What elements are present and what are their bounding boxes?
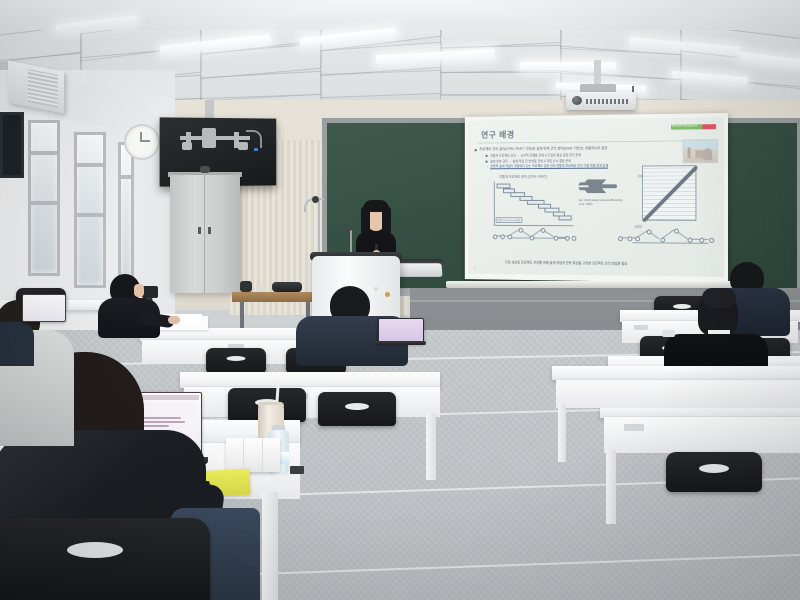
chair[interactable] bbox=[666, 452, 762, 492]
av-equipment bbox=[240, 281, 252, 292]
dsm-matrix bbox=[642, 165, 696, 221]
network-diagram-right bbox=[617, 226, 718, 248]
projector-pole bbox=[594, 60, 601, 86]
desk-leg bbox=[558, 404, 566, 462]
aircraft-illustration bbox=[579, 175, 623, 197]
desk bbox=[552, 366, 800, 380]
attendee-hand bbox=[168, 316, 180, 324]
attendee-hair-bun bbox=[702, 288, 736, 308]
desk-cable-slot bbox=[634, 325, 648, 330]
desk-leg bbox=[426, 414, 436, 480]
tissue-box bbox=[226, 438, 280, 472]
slide-bullet-1: 프로젝트 관리 분야(CPM, PERT 기반)와 설계 반복 관리 분야(DS… bbox=[479, 146, 607, 152]
classroom-presentation-photo: 연구 배경 Research Background 프로젝트 관리 분야(CPM… bbox=[0, 0, 800, 600]
bullet-marker-1 bbox=[475, 149, 477, 151]
slide-title-rule bbox=[477, 140, 714, 143]
window-3 bbox=[118, 142, 134, 288]
gantt-legend: 주경로 (Critical Path) 작업 bbox=[496, 217, 522, 223]
projector-vents bbox=[586, 99, 630, 104]
desk-panel bbox=[556, 379, 800, 408]
attendee-face bbox=[134, 284, 144, 297]
dsm-diagonal bbox=[643, 166, 697, 222]
bullet-marker-2 bbox=[486, 155, 488, 157]
laptop-back-left[interactable] bbox=[22, 294, 66, 322]
laptop-base bbox=[374, 341, 426, 345]
window-2 bbox=[74, 132, 106, 288]
chair-foreground[interactable] bbox=[0, 518, 210, 600]
slide-progress-indicator: Research Background bbox=[671, 124, 716, 130]
speaker-grille bbox=[28, 69, 58, 108]
slide-progress-current bbox=[702, 124, 716, 129]
projection-screen: 연구 배경 Research Background 프로젝트 관리 분야(CPM… bbox=[465, 113, 728, 283]
slide-progress-label: Research Background bbox=[672, 124, 697, 127]
attendee-left-profile bbox=[96, 274, 166, 336]
slide-bottom-note: 더욱 개선된 프로젝트 관리를 위해 설계 작업의 반복 특성을 고려한 프로젝… bbox=[505, 259, 628, 265]
bullet-marker-3 bbox=[486, 160, 488, 162]
storage-cabinet bbox=[170, 175, 240, 293]
desk-cable-slot bbox=[624, 424, 644, 431]
gantt-chart: 주경로 (Critical Path) 작업 bbox=[494, 181, 574, 226]
podium-microphone-head-icon bbox=[344, 226, 352, 231]
projector-lens-icon bbox=[572, 96, 582, 105]
av-equipment bbox=[256, 285, 265, 292]
attendee-right bbox=[664, 292, 768, 372]
desk-leg bbox=[606, 450, 616, 524]
smartphone[interactable] bbox=[662, 330, 675, 337]
wall-clock-icon bbox=[124, 124, 160, 160]
desk-leg bbox=[262, 492, 278, 600]
microphone-icon bbox=[312, 196, 319, 203]
screen-roller-bar bbox=[446, 281, 732, 288]
figure-center-caption: Ex. UCAV design process (Browning et al.… bbox=[579, 199, 625, 206]
ceiling-light-4 bbox=[520, 62, 616, 70]
chair[interactable] bbox=[318, 392, 396, 426]
desk-panel bbox=[184, 386, 440, 417]
slide-page-number: 2 bbox=[474, 267, 475, 270]
slide-bullet-4: 반복적 설계 작업이 포함되어 있는 프로젝트 일정 관리 전통적 프로젝트 관… bbox=[490, 163, 608, 169]
bullet-marker-4: → bbox=[486, 164, 489, 168]
slide-title: 연구 배경 bbox=[481, 129, 515, 141]
cabinet-knob bbox=[200, 166, 210, 173]
slide-corner-photo bbox=[683, 139, 718, 163]
presentation-slide: 연구 배경 Research Background 프로젝트 관리 분야(CPM… bbox=[468, 117, 724, 277]
attendee-torso bbox=[0, 322, 34, 366]
window-1 bbox=[28, 120, 60, 276]
desk-panel bbox=[604, 416, 800, 453]
desk-cable-slot bbox=[290, 466, 304, 474]
tv-bracket bbox=[180, 128, 256, 154]
wall-frame bbox=[0, 112, 24, 178]
tv-indicator-led bbox=[254, 148, 258, 151]
figure-left-caption: 전통적 프로젝트 관리 (CPM, PERT) bbox=[499, 174, 547, 179]
network-diagram-left bbox=[492, 224, 575, 246]
